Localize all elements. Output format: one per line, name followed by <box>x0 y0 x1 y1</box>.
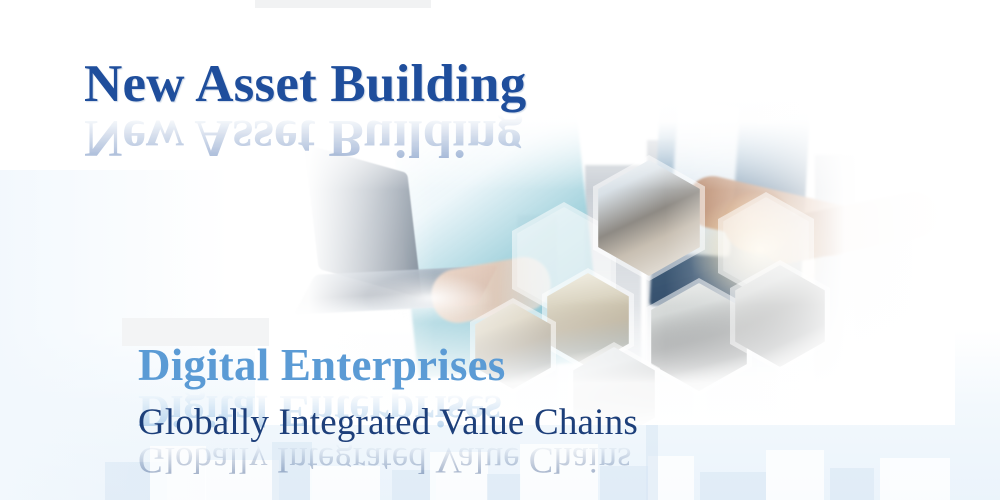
top-strip <box>255 0 431 8</box>
subtitle-primary: Digital Enterprises <box>138 343 506 388</box>
banner-root: New Asset Building Digital Enterprises G… <box>0 0 1000 500</box>
page-title: New Asset Building <box>84 58 526 111</box>
subtitle-secondary-reflection: Globally Integrated Value Chains <box>138 441 632 478</box>
right-fade <box>665 95 955 425</box>
subtitle-secondary: Globally Integrated Value Chains <box>138 404 638 441</box>
